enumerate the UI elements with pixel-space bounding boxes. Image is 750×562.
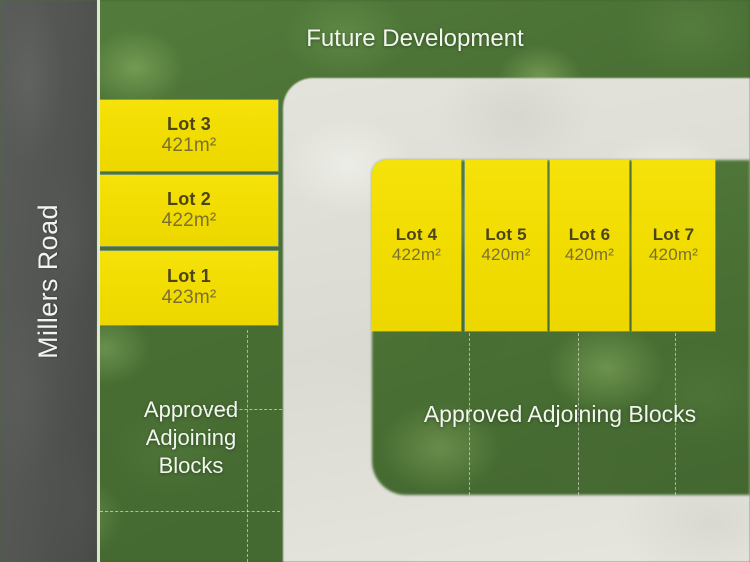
lot-parcel-1[interactable]: Lot 1 423m²	[100, 251, 278, 325]
asphalt-road-surface	[0, 0, 97, 562]
lot-parcel-3[interactable]: Lot 3 421m²	[100, 100, 278, 171]
parcel-boundary-dashed-vertical	[247, 330, 248, 562]
lot-parcel-7[interactable]: Lot 7 420m²	[632, 160, 715, 331]
lot-name: Lot 6	[569, 225, 611, 244]
lot-parcel-4[interactable]: Lot 4 422m²	[372, 160, 461, 331]
lot-name: Lot 4	[396, 225, 438, 244]
lot-parcel-6[interactable]: Lot 6 420m²	[550, 160, 629, 331]
parcel-boundary-dashed-vertical	[469, 333, 470, 495]
parcel-boundary-dashed-vertical	[578, 333, 579, 495]
parcel-boundary-dashed-vertical	[675, 333, 676, 495]
lot-area: 420m²	[481, 245, 530, 265]
lot-area: 422m²	[392, 245, 441, 265]
lot-name: Lot 3	[167, 114, 211, 134]
parcel-boundary-dashed-horizontal	[100, 511, 280, 512]
lot-area: 420m²	[649, 245, 698, 265]
lot-name: Lot 7	[653, 225, 695, 244]
lot-area: 421m²	[162, 135, 217, 157]
lot-area: 423m²	[162, 287, 217, 309]
lot-name: Lot 5	[485, 225, 527, 244]
lot-name: Lot 1	[167, 266, 211, 286]
lot-area: 420m²	[565, 245, 614, 265]
lot-area: 422m²	[162, 210, 217, 232]
site-plan-canvas: Millers Road Lot 3 421m² Lot 2 422m² Lot…	[0, 0, 750, 562]
lot-parcel-5[interactable]: Lot 5 420m²	[465, 160, 547, 331]
lot-parcel-2[interactable]: Lot 2 422m²	[100, 175, 278, 246]
parcel-boundary-dashed-horizontal	[200, 409, 282, 410]
lot-name: Lot 2	[167, 189, 211, 209]
